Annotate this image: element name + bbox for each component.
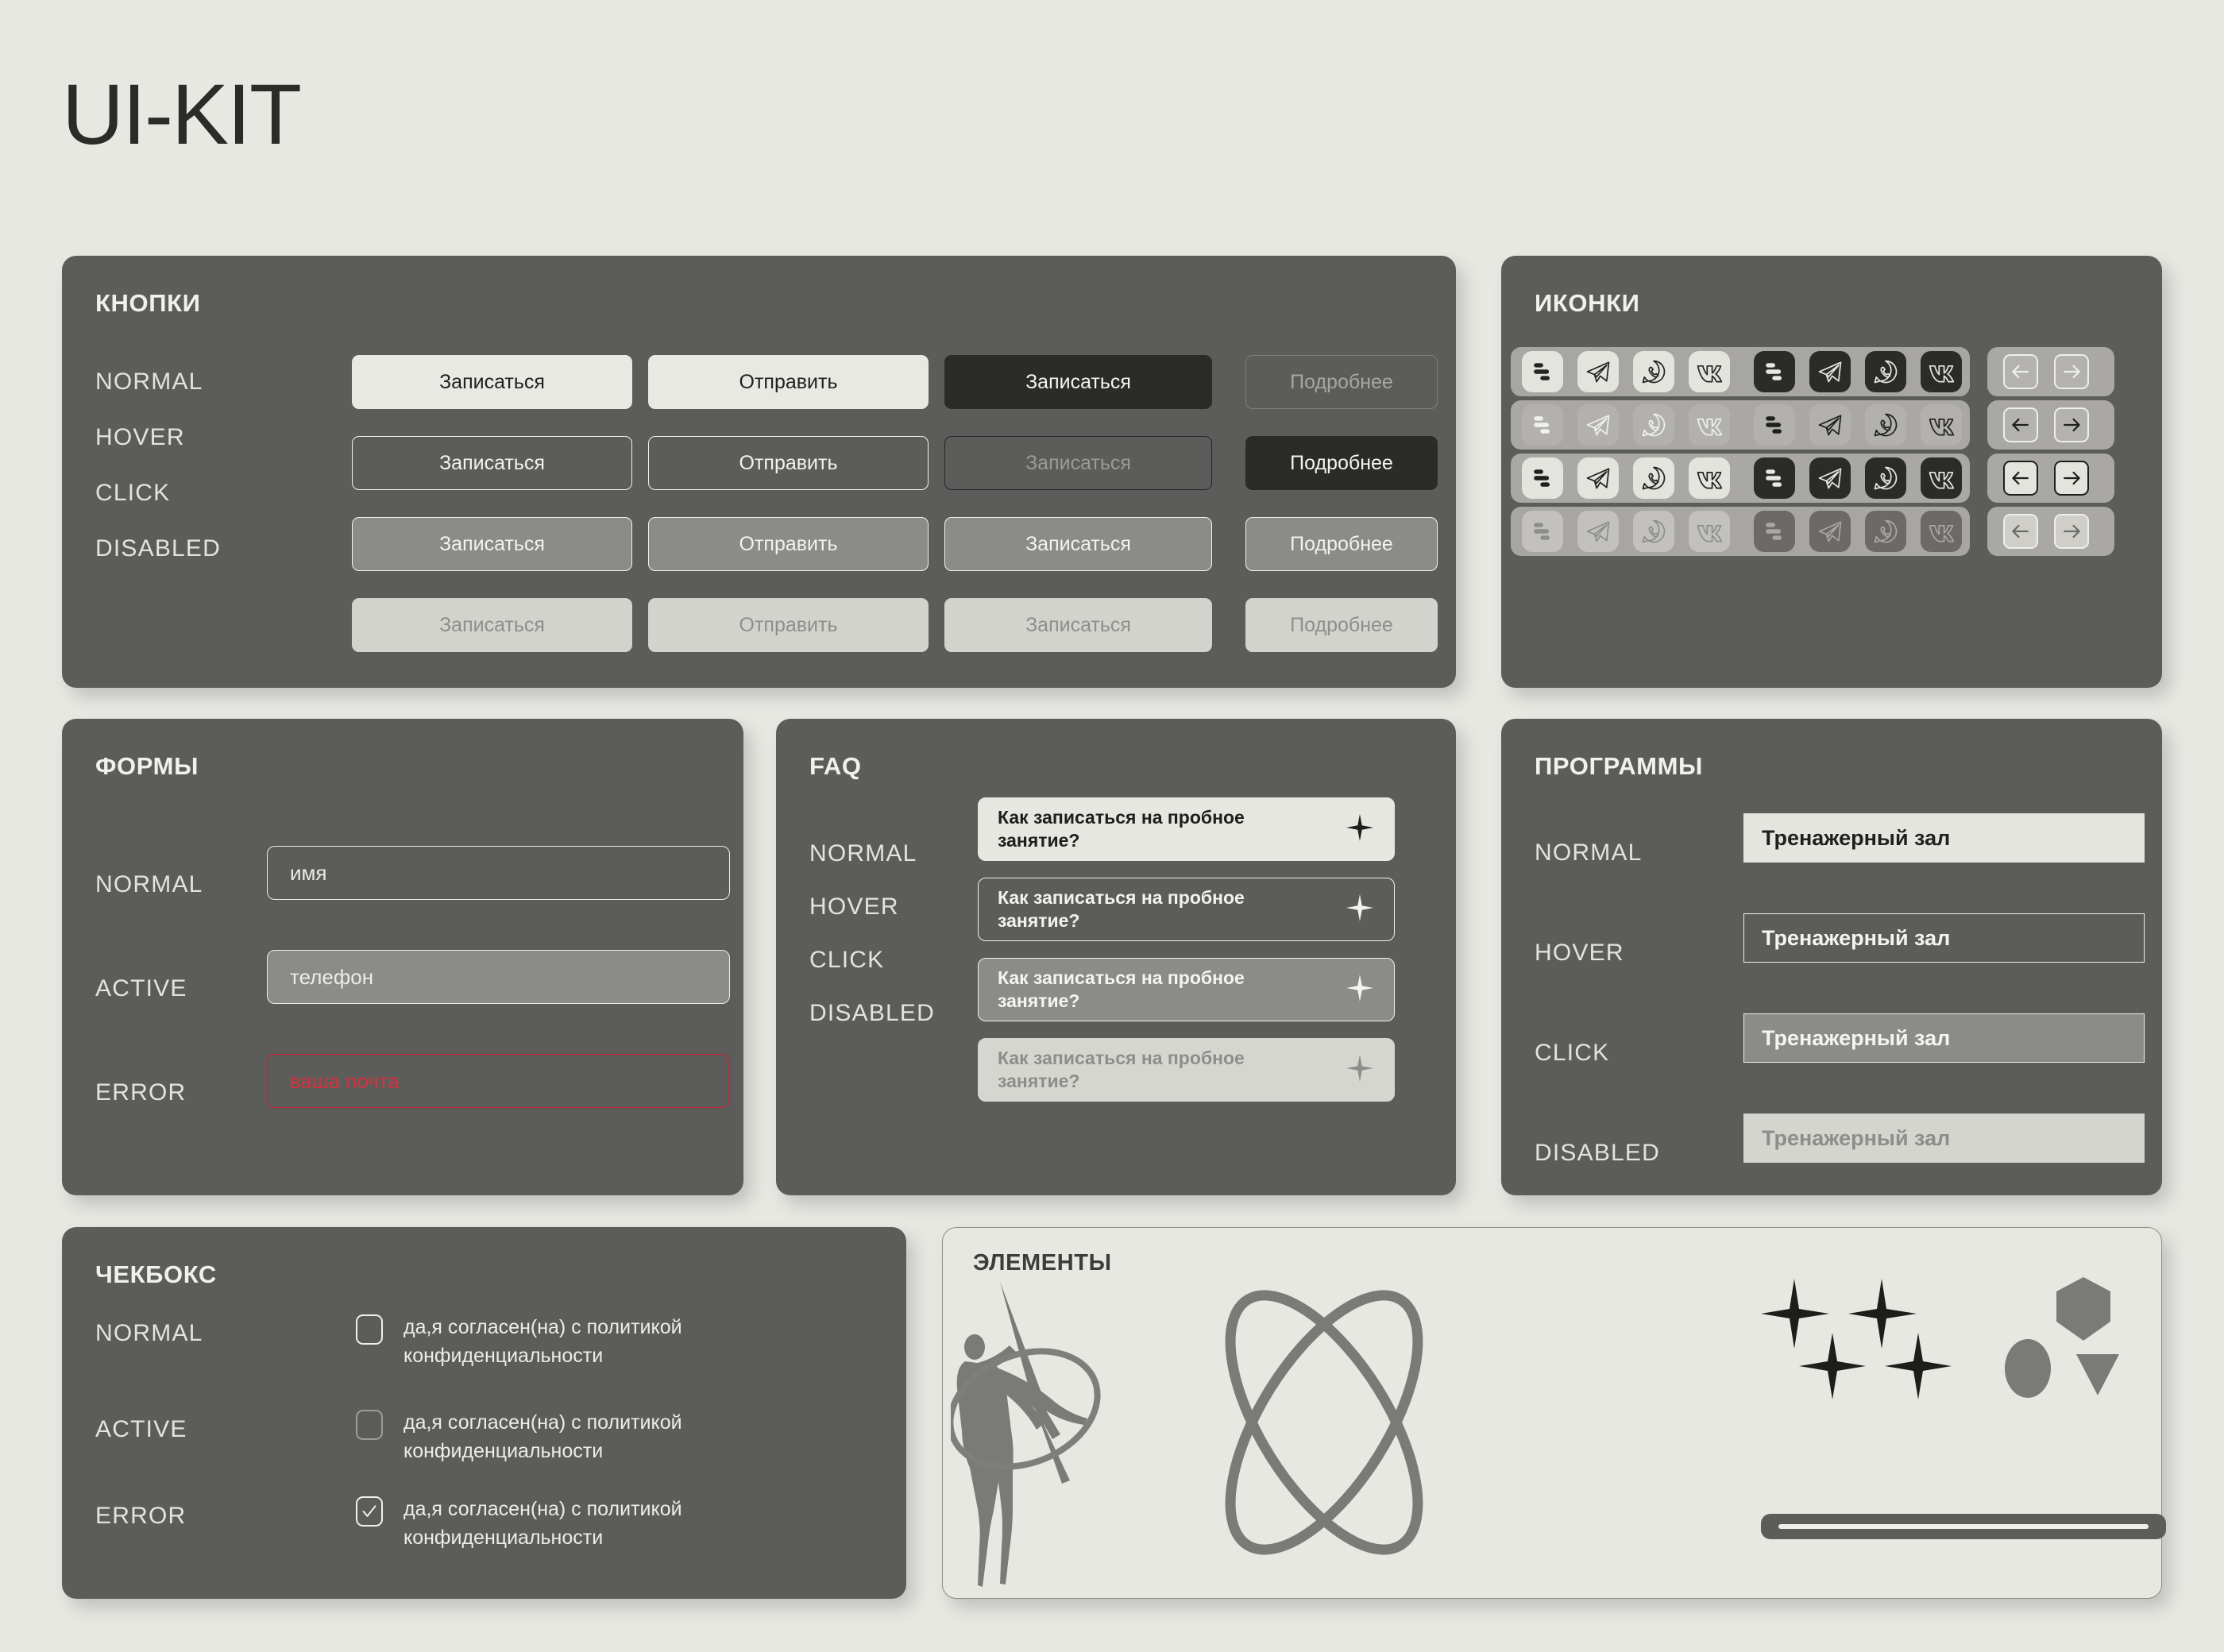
arrow-right-icon[interactable] [2054, 514, 2089, 549]
form-input-email[interactable]: ваша почта [267, 1054, 730, 1108]
button-zapisatsya-normal[interactable]: Записаться [352, 355, 632, 409]
faq-state-disabled: DISABLED [809, 1000, 935, 1027]
programs-state-disabled: DISABLED [1535, 1140, 1660, 1167]
menu-list-icon[interactable] [1522, 351, 1563, 392]
vk-icon[interactable] [1689, 404, 1730, 446]
programs-state-hover: HOVER [1535, 940, 1624, 967]
button-zapisatsya-disabled: Записаться [352, 598, 632, 652]
vk-icon-inverted[interactable] [1921, 404, 1962, 446]
sparkle-icon [1346, 814, 1373, 845]
forms-state-normal: NORMAL [95, 871, 203, 898]
faq-question-text: Как записаться на пробное занятие? [998, 806, 1291, 853]
menu-list-icon-inverted[interactable] [1754, 511, 1795, 552]
menu-list-icon-inverted[interactable] [1754, 457, 1795, 499]
slider-fill [1778, 1524, 2149, 1529]
arrow-right-icon[interactable] [2054, 461, 2089, 496]
button-podrobnee-normal[interactable]: Подробнее [1245, 355, 1438, 409]
faq-item-click[interactable]: Как записаться на пробное занятие? [978, 958, 1395, 1021]
arrow-left-icon[interactable] [2003, 514, 2038, 549]
button-zapisatsya-click[interactable]: Записаться [352, 517, 632, 571]
menu-list-icon[interactable] [1522, 457, 1563, 499]
faq-item-normal[interactable]: Как записаться на пробное занятие? [978, 797, 1395, 861]
faq-question-text: Как записаться на пробное занятие? [998, 886, 1291, 933]
programs-state-normal: NORMAL [1535, 840, 1643, 867]
check-icon [361, 1503, 377, 1519]
checkbox-state-active: ACTIVE [95, 1416, 187, 1443]
triangle-down-shape [2075, 1351, 2121, 1399]
button-otpravit-hover[interactable]: Отправить [648, 436, 929, 490]
telegram-icon-inverted[interactable] [1809, 404, 1851, 446]
programs-panel-title: ПРОГРАММЫ [1535, 752, 1703, 781]
menu-list-icon[interactable] [1522, 404, 1563, 446]
arrow-right-icon[interactable] [2054, 407, 2089, 442]
button-podrobnee-hover[interactable]: Подробнее [1245, 436, 1438, 490]
button-zapisatsya-dark-normal[interactable]: Записаться [944, 355, 1212, 409]
button-zapisatsya-dark-hover[interactable]: Записаться [944, 436, 1212, 490]
whatsapp-icon[interactable] [1633, 457, 1674, 499]
checkbox-state-error: ERROR [95, 1503, 186, 1530]
whatsapp-icon-inverted[interactable] [1865, 457, 1906, 499]
buttons-panel: КНОПКИ NORMAL HOVER CLICK DISABLED Запис… [62, 256, 1456, 688]
faq-question-text: Как записаться на пробное занятие? [998, 967, 1291, 1013]
faq-item-hover[interactable]: Как записаться на пробное занятие? [978, 878, 1395, 941]
faq-state-hover: HOVER [809, 894, 899, 921]
checkbox-row-active[interactable]: да,я согласен(на) с политикой конфиденци… [356, 1408, 737, 1466]
hexagon-shape [2055, 1276, 2112, 1347]
forms-state-error: ERROR [95, 1079, 186, 1106]
checkbox-panel-title: ЧЕКБОКС [95, 1260, 217, 1289]
menu-list-icon-inverted[interactable] [1754, 404, 1795, 446]
ellipse-shape [2003, 1337, 2052, 1399]
sparkle-icon [1346, 894, 1373, 925]
whatsapp-icon-inverted[interactable] [1865, 404, 1906, 446]
button-zapisatsya-dark-click[interactable]: Записаться [944, 517, 1212, 571]
ui-kit-page: UI-KIT КНОПКИ NORMAL HOVER CLICK DISABLE… [0, 0, 2224, 1652]
buttons-state-normal: NORMAL [95, 369, 203, 396]
faq-state-normal: NORMAL [809, 840, 917, 867]
form-input-phone[interactable]: телефон [267, 950, 730, 1004]
forms-panel: ФОРМЫ NORMAL ACTIVE ERROR имя телефон ва… [62, 719, 743, 1195]
checkbox-state-normal: NORMAL [95, 1320, 203, 1347]
menu-list-icon[interactable] [1522, 511, 1563, 552]
gymnast-silhouette [951, 1268, 1165, 1593]
arrow-left-icon[interactable] [2003, 407, 2038, 442]
faq-state-click: CLICK [809, 947, 884, 974]
faq-panel: FAQ NORMAL HOVER CLICK DISABLED Как запи… [776, 719, 1456, 1195]
whatsapp-icon-inverted[interactable] [1865, 511, 1906, 552]
icons-panel: ИКОНКИ [1501, 256, 2162, 688]
forms-state-active: ACTIVE [95, 975, 187, 1002]
checkbox-label: да,я согласен(на) с политикой конфиденци… [403, 1313, 737, 1371]
button-zapisatsya-dark-disabled: Записаться [944, 598, 1212, 652]
page-title: UI-KIT [62, 71, 300, 157]
button-zapisatsya-hover[interactable]: Записаться [352, 436, 632, 490]
buttons-state-disabled: DISABLED [95, 535, 221, 562]
program-item-normal[interactable]: Тренажерный зал [1743, 813, 2145, 863]
form-input-name[interactable]: имя [267, 846, 730, 900]
checkbox-label: да,я согласен(на) с политикой конфиденци… [403, 1495, 737, 1553]
button-podrobnee-click[interactable]: Подробнее [1245, 517, 1438, 571]
forms-panel-title: ФОРМЫ [95, 752, 199, 781]
program-item-click[interactable]: Тренажерный зал [1743, 1013, 2145, 1063]
telegram-icon[interactable] [1577, 351, 1619, 392]
button-otpravit-click[interactable]: Отправить [648, 517, 929, 571]
sparkle-icon [1761, 1276, 1975, 1403]
telegram-icon-inverted[interactable] [1809, 511, 1851, 552]
elements-panel: ЭЛЕМЕНТЫ [942, 1227, 2162, 1599]
arrow-left-icon[interactable] [2003, 354, 2038, 389]
programs-panel: ПРОГРАММЫ NORMAL HOVER CLICK DISABLED Тр… [1501, 719, 2162, 1195]
vk-icon[interactable] [1689, 511, 1730, 552]
telegram-icon-inverted[interactable] [1809, 457, 1851, 499]
button-otpravit-normal[interactable]: Отправить [648, 355, 929, 409]
sparkle-icon [1346, 1055, 1373, 1086]
telegram-icon[interactable] [1577, 404, 1619, 446]
telegram-icon[interactable] [1577, 457, 1619, 499]
vk-icon-inverted[interactable] [1921, 511, 1962, 552]
infinity-loops-graphic [1181, 1268, 1467, 1577]
faq-item-disabled: Как записаться на пробное занятие? [978, 1038, 1395, 1102]
vk-icon-inverted[interactable] [1921, 351, 1962, 392]
checkbox-label: да,я согласен(на) с политикой конфиденци… [403, 1408, 737, 1466]
whatsapp-icon-inverted[interactable] [1865, 351, 1906, 392]
arrow-right-icon[interactable] [2054, 354, 2089, 389]
checkbox-panel: ЧЕКБОКС NORMAL ACTIVE ERROR да,я согласе… [62, 1227, 906, 1599]
programs-state-click: CLICK [1535, 1040, 1609, 1067]
menu-list-icon-inverted[interactable] [1754, 351, 1795, 392]
faq-question-text: Как записаться на пробное занятие? [998, 1047, 1291, 1094]
vk-icon[interactable] [1689, 351, 1730, 392]
whatsapp-icon[interactable] [1633, 404, 1674, 446]
buttons-state-hover: HOVER [95, 424, 185, 451]
buttons-panel-title: КНОПКИ [95, 289, 201, 318]
program-item-hover[interactable]: Тренажерный зал [1743, 913, 2145, 963]
telegram-icon-inverted[interactable] [1809, 351, 1851, 392]
checkbox-row-normal[interactable]: да,я согласен(на) с политикой конфиденци… [356, 1313, 737, 1371]
sparkle-icon [1346, 975, 1373, 1005]
arrow-left-icon[interactable] [2003, 461, 2038, 496]
checkbox-row-error[interactable]: да,я согласен(на) с политикой конфиденци… [356, 1495, 737, 1553]
slider-divider[interactable] [1761, 1514, 2166, 1539]
vk-icon[interactable] [1689, 457, 1730, 499]
whatsapp-icon[interactable] [1633, 351, 1674, 392]
program-item-disabled: Тренажерный зал [1743, 1114, 2145, 1163]
checkbox-box-error[interactable] [356, 1496, 383, 1527]
vk-icon-inverted[interactable] [1921, 457, 1962, 499]
checkbox-box-active[interactable] [356, 1410, 383, 1440]
faq-panel-title: FAQ [809, 752, 862, 781]
icons-panel-title: ИКОНКИ [1535, 289, 1640, 318]
button-otpravit-disabled: Отправить [648, 598, 929, 652]
checkbox-box-normal[interactable] [356, 1314, 383, 1345]
whatsapp-icon[interactable] [1633, 511, 1674, 552]
telegram-icon[interactable] [1577, 511, 1619, 552]
button-podrobnee-disabled: Подробнее [1245, 598, 1438, 652]
buttons-state-click: CLICK [95, 480, 170, 507]
